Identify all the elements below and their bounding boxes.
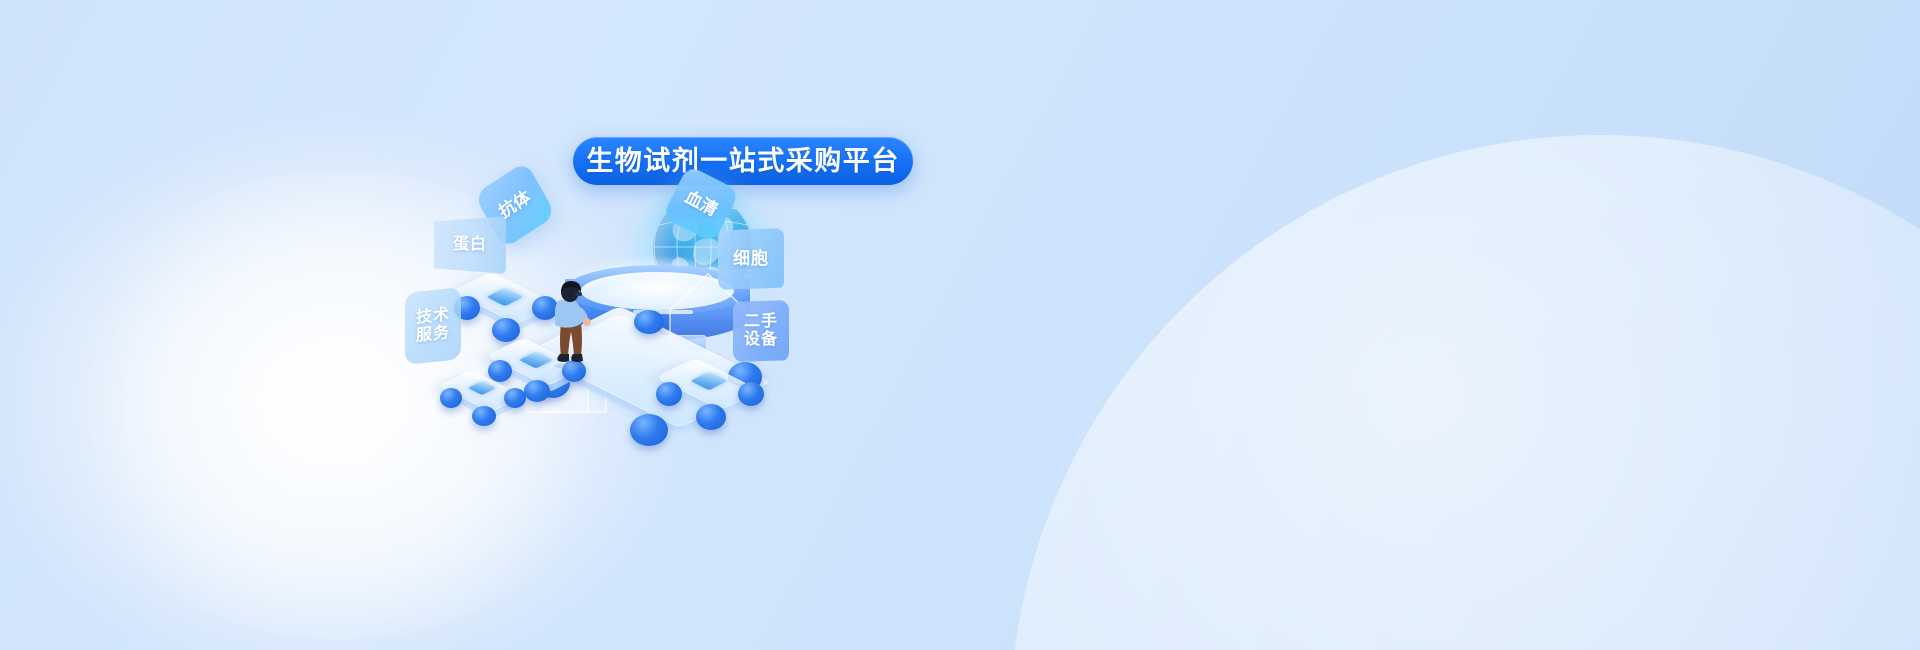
chip-foot — [440, 388, 462, 408]
category-tag-label: 二手 设备 — [744, 313, 778, 349]
category-tag-label: 蛋白 — [453, 236, 487, 254]
chip-foot — [738, 382, 764, 406]
chip-foot — [504, 388, 526, 408]
category-tag-label: 血清 — [682, 188, 721, 220]
category-tag-cell[interactable]: 细胞 — [718, 228, 784, 290]
category-tag-technical-service[interactable]: 技术 服务 — [405, 287, 461, 365]
chip-foot — [524, 380, 550, 402]
chip-foot — [472, 406, 496, 426]
chip-bottom-right — [662, 356, 754, 412]
hero-banner: 生物试剂一站式采购平台 — [0, 0, 1920, 650]
chip-foot — [630, 414, 668, 446]
chip-top-left — [458, 270, 550, 326]
chip-foot — [656, 382, 682, 406]
chip-bottom-left — [444, 368, 518, 414]
category-tag-label: 技术 服务 — [416, 306, 450, 345]
chip-foot — [634, 310, 664, 334]
chip-foot — [696, 404, 726, 430]
background-arc-decoration — [1010, 135, 1920, 650]
category-tag-protein[interactable]: 蛋白 — [434, 216, 506, 274]
person-figure — [548, 278, 592, 368]
category-tag-label: 细胞 — [733, 249, 769, 268]
category-tag-second-hand-equipment[interactable]: 二手 设备 — [733, 300, 789, 362]
